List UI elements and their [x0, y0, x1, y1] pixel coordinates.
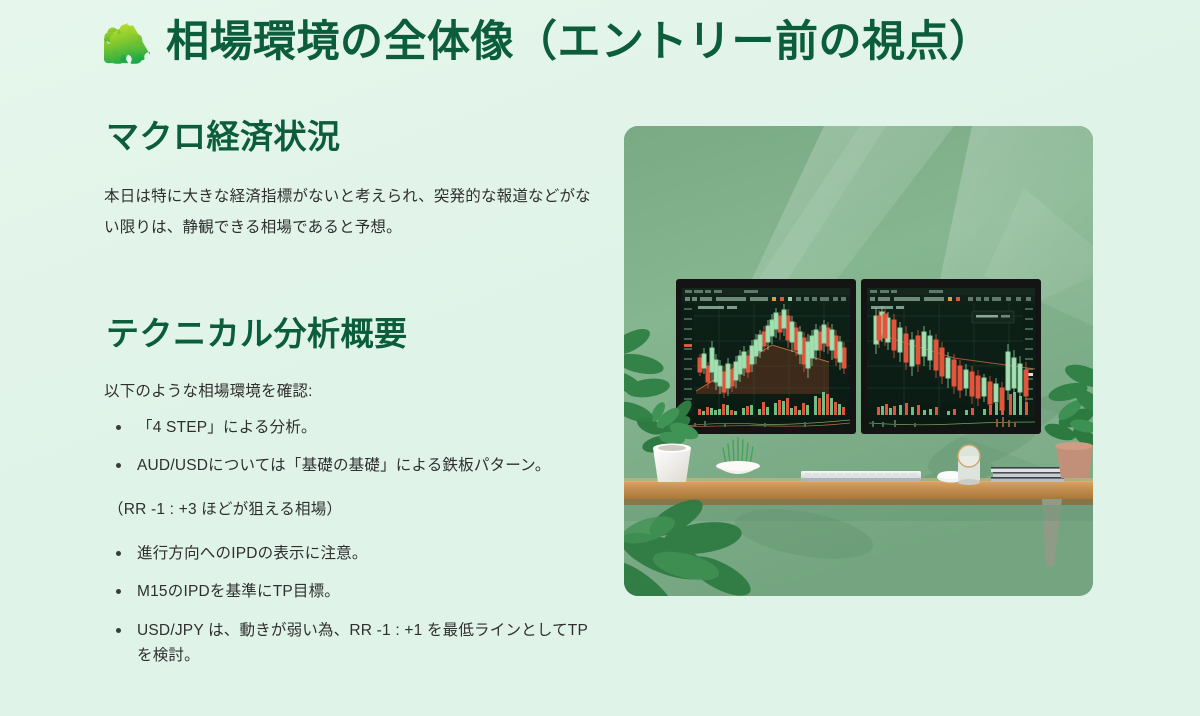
list-item: AUD/USDについては「基礎の基礎」による鉄板パターン。	[104, 453, 600, 479]
bullet-list-secondary: 進行方向へのIPDの表示に注意。 M15のIPDを基準にTP目標。 USD/JP…	[104, 541, 600, 669]
technical-intro: 以下のような相場環境を確認:	[104, 379, 600, 401]
content-column: マクロ経済状況 本日は特に大きな経済指標がないと考えられ、突発的な報道などがない…	[104, 118, 600, 682]
bullet-list-primary: 「4 STEP」による分析。 AUD/USDについては「基礎の基礎」による鉄板パ…	[104, 415, 600, 479]
section-heading-technical: テクニカル分析概要	[106, 315, 600, 356]
section-spacer	[104, 243, 600, 315]
workspace-photo	[624, 126, 1093, 596]
section-heading-macro: マクロ経済状況	[106, 118, 600, 159]
list-item: 進行方向へのIPDの表示に注意。	[104, 541, 600, 567]
puzzle-piece-icon	[104, 20, 150, 66]
list-item: USD/JPY は、動きが弱い為、RR -1 : +1 を最低ラインとしてTPを…	[104, 618, 600, 669]
list-item: 「4 STEP」による分析。	[104, 415, 600, 441]
macro-paragraph: 本日は特に大きな経済指標がないと考えられ、突発的な報道などがない限りは、静観でき…	[104, 181, 600, 243]
list-item: M15のIPDを基準にTP目標。	[104, 579, 600, 605]
page-title-row: 相場環境の全体像（エントリー前の視点）	[104, 18, 993, 67]
page-title: 相場環境の全体像（エントリー前の視点）	[166, 18, 993, 67]
rr-note: （RR -1 : +3 ほどが狙える相場）	[108, 497, 600, 519]
slide-page: 相場環境の全体像（エントリー前の視点） マクロ経済状況 本日は特に大きな経済指標…	[0, 0, 1200, 716]
